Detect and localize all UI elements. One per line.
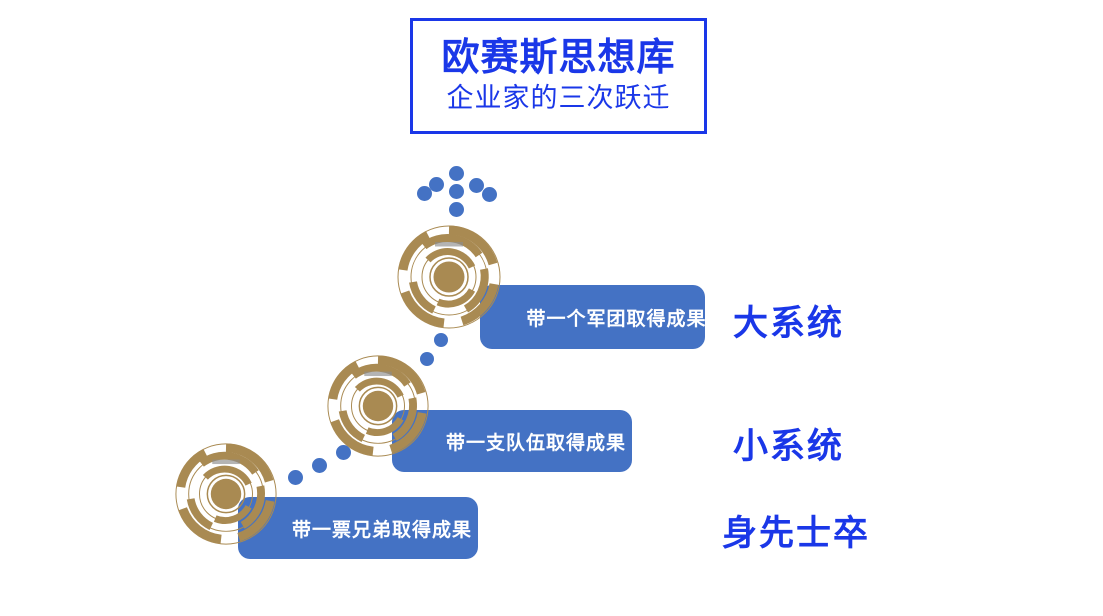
stage-heading-2: 小系统 bbox=[733, 418, 844, 469]
trail-dot bbox=[312, 458, 327, 473]
stage-label-text-3: 带一个军团取得成果 bbox=[479, 304, 707, 331]
stage-heading-3: 大系统 bbox=[733, 295, 844, 346]
stage-label-text-2: 带一支队伍取得成果 bbox=[398, 428, 626, 455]
chevron-dot bbox=[417, 186, 432, 201]
logo-microtext bbox=[212, 460, 239, 464]
title-main: 欧赛斯思想库 bbox=[441, 38, 675, 79]
trail-dot bbox=[434, 333, 448, 347]
chevron-dot bbox=[449, 166, 464, 181]
trail-dot bbox=[288, 470, 303, 485]
chevron-dot bbox=[449, 184, 464, 199]
stage-heading-1: 身先士卒 bbox=[722, 505, 870, 556]
logo-core bbox=[434, 262, 465, 293]
concentric-rings-logo-icon bbox=[172, 440, 280, 548]
logo-core bbox=[211, 479, 241, 509]
concentric-rings-logo-icon bbox=[324, 352, 432, 460]
slide-canvas: 欧赛斯思想库 企业家的三次跃迁 带一个军团取得成果 bbox=[0, 0, 1103, 616]
concentric-rings-logo-icon bbox=[394, 222, 504, 332]
stage-label-pill-3[interactable]: 带一个军团取得成果 bbox=[480, 285, 705, 349]
logo-microtext bbox=[364, 372, 391, 376]
title-box: 欧赛斯思想库 企业家的三次跃迁 bbox=[410, 18, 707, 134]
chevron-dot bbox=[449, 202, 464, 217]
chevron-dot bbox=[482, 187, 497, 202]
logo-microtext bbox=[435, 242, 463, 247]
title-subtitle: 企业家的三次跃迁 bbox=[447, 82, 671, 114]
logo-core bbox=[363, 391, 393, 421]
